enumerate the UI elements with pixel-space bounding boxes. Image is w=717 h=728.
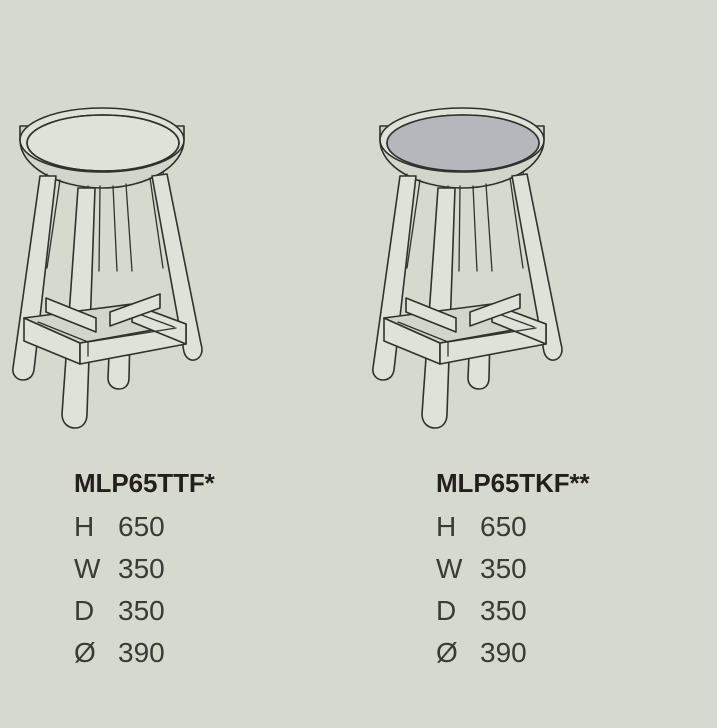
dimension-list: H 650 W 350 D 350 Ø 390 [74,506,358,674]
dimension-key-d: D [436,590,480,632]
dimension-row-depth: D 350 [74,590,358,632]
dimension-value-h: 650 [118,506,165,548]
product-card-mlp65tkf: MLP65TKF** H 650 W 350 D 350 Ø 390 [360,0,717,728]
dimension-value-d: 350 [118,590,165,632]
dimension-value-diameter: 390 [480,632,527,674]
stool-illustration [0,96,358,448]
dimension-key-d: D [74,590,118,632]
product-card-mlp65ttf: MLP65TTF* H 650 W 350 D 350 Ø 390 [0,0,358,728]
dimension-key-h: H [436,506,480,548]
dimension-row-diameter: Ø 390 [436,632,717,674]
dimension-value-w: 350 [118,548,165,590]
dimension-row-diameter: Ø 390 [74,632,358,674]
dimension-key-h: H [74,506,118,548]
dimension-value-d: 350 [480,590,527,632]
dimension-value-h: 650 [480,506,527,548]
dimension-row-depth: D 350 [436,590,717,632]
product-spec-sheet: MLP65TTF* H 650 W 350 D 350 Ø 390 [0,0,717,728]
dimension-row-width: W 350 [436,548,717,590]
dimension-key-diameter: Ø [74,632,118,674]
dimension-row-height: H 650 [436,506,717,548]
stool-drawing-mlp65tkf [360,96,717,448]
spec-block-mlp65ttf: MLP65TTF* H 650 W 350 D 350 Ø 390 [74,466,358,674]
stool-illustration [360,96,717,448]
dimension-row-height: H 650 [74,506,358,548]
product-code: MLP65TTF* [74,466,358,500]
dimension-value-diameter: 390 [118,632,165,674]
dimension-key-w: W [74,548,118,590]
dimension-key-w: W [436,548,480,590]
dimension-key-diameter: Ø [436,632,480,674]
dimension-value-w: 350 [480,548,527,590]
dimension-list: H 650 W 350 D 350 Ø 390 [436,506,717,674]
stool-drawing-mlp65ttf [0,96,358,448]
dimension-row-width: W 350 [74,548,358,590]
product-code: MLP65TKF** [436,466,717,500]
spec-block-mlp65tkf: MLP65TKF** H 650 W 350 D 350 Ø 390 [436,466,717,674]
